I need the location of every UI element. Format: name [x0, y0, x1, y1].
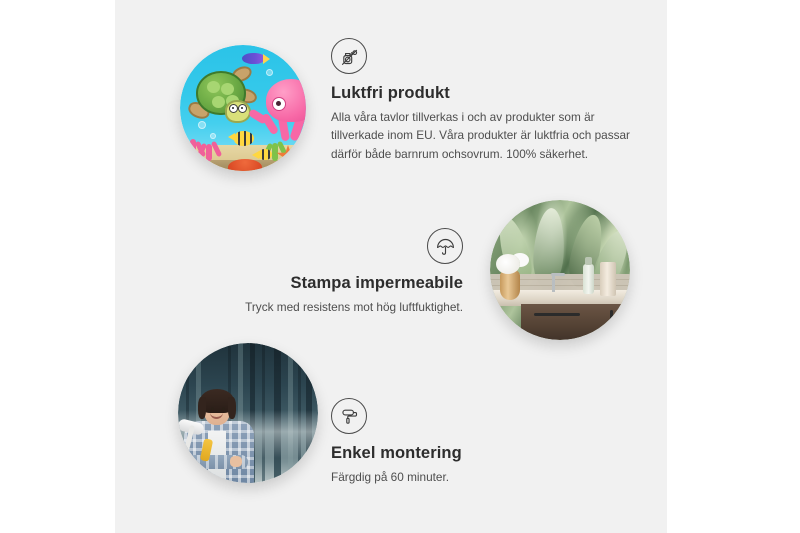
- octopus-head: [266, 79, 306, 122]
- bathroom-scene: [490, 200, 630, 340]
- infographic-canvas: Luktfri produkt Alla våra tavlor tillver…: [0, 0, 800, 533]
- turtle-head: [225, 100, 251, 123]
- person-hair: [200, 389, 234, 413]
- person-eye: [211, 407, 214, 410]
- underwater-scene: [180, 45, 306, 171]
- feature-easy-mounting: Enkel montering Färgdig på 60 minuter.: [331, 398, 591, 486]
- umbrella-icon: [427, 228, 463, 264]
- feature-description: Färgdig på 60 minuter.: [331, 468, 591, 487]
- product-image-bathroom[interactable]: [490, 200, 630, 340]
- octopus-eye: [272, 97, 286, 111]
- coral-green-icon: [272, 143, 278, 161]
- paint-roller-icon: [331, 398, 367, 434]
- bubble-icon: [198, 121, 206, 129]
- product-image-underwater[interactable]: [180, 45, 306, 171]
- feature-title: Enkel montering: [331, 443, 591, 464]
- feature-title: Luktfri produkt: [331, 83, 631, 104]
- faucet-icon: [552, 276, 555, 292]
- yellow-fish-icon: [234, 131, 254, 146]
- coral-pink-icon: [206, 144, 212, 161]
- coral-pink-icon: [190, 139, 196, 161]
- turtle-eye: [238, 104, 247, 113]
- toiletry-bottle: [600, 262, 616, 296]
- bubble-icon: [266, 69, 273, 76]
- feature-waterproof-print: Stampa impermeabile Tryck med resistens …: [208, 228, 463, 316]
- blue-fish-icon: [242, 53, 264, 64]
- forest-scene: [178, 343, 318, 483]
- feature-title: Stampa impermeabile: [208, 273, 463, 294]
- white-flower: [496, 254, 520, 274]
- person-eye: [222, 407, 225, 410]
- feature-odour-free: Luktfri produkt Alla våra tavlor tillver…: [331, 38, 631, 164]
- person-hand: [230, 456, 242, 467]
- feature-description: Alla våra tavlor tillverkas i och av pro…: [331, 108, 631, 164]
- turtle-eye: [229, 104, 238, 113]
- crab-icon: [228, 159, 262, 171]
- feature-description: Tryck med resistens mot hög luftfuktighe…: [208, 298, 463, 317]
- product-image-forest[interactable]: [178, 343, 318, 483]
- bubble-icon: [210, 133, 216, 139]
- yellow-fish-icon: [258, 149, 272, 160]
- soap-dispenser: [583, 264, 594, 294]
- no-smell-spray-icon: [331, 38, 367, 74]
- vanity-cabinet: [521, 304, 630, 340]
- vase: [500, 270, 520, 300]
